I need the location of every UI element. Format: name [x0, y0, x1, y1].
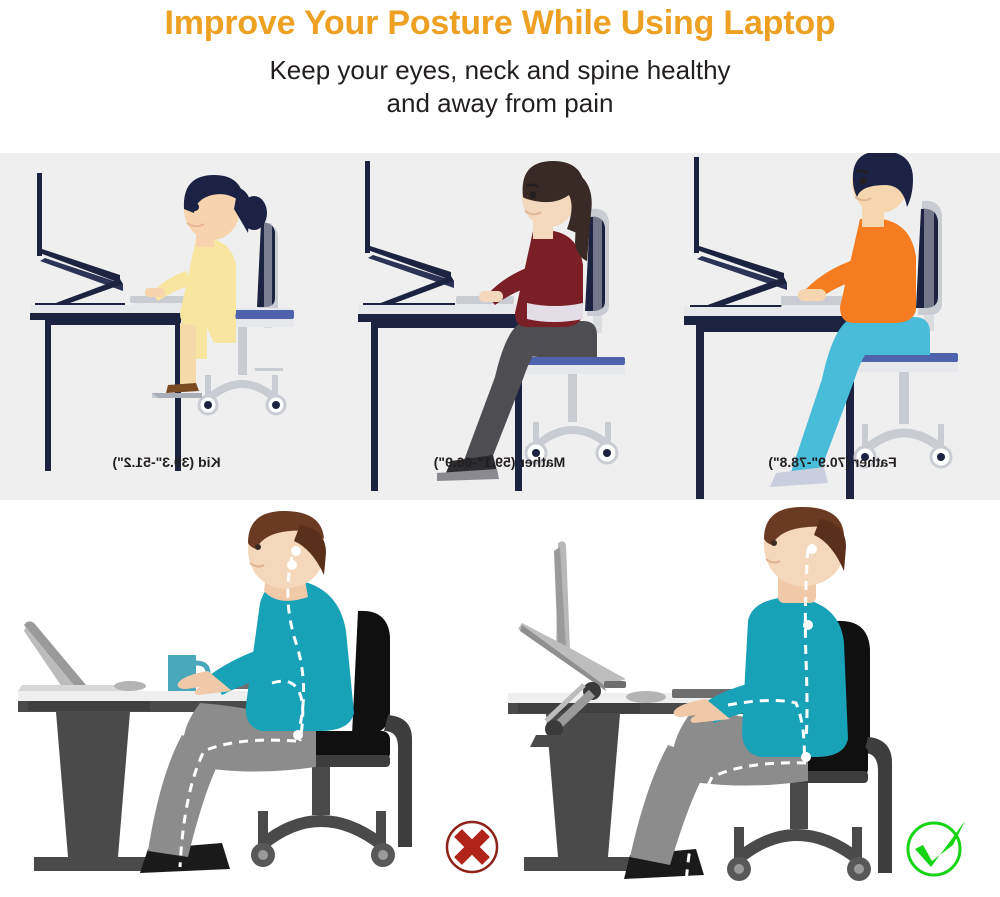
figure-mother: Mather (59.1"-66.9")	[333, 153, 666, 500]
status-badge-incorrect	[443, 818, 501, 876]
poster-root: Improve Your Posture While Using Laptop …	[0, 0, 1000, 897]
laptop-stand-icon	[690, 157, 788, 313]
keyboard-base	[781, 305, 847, 310]
check-mark-icon	[903, 815, 973, 881]
ponytail	[241, 196, 267, 230]
figure-father: Father (70.9"-78.8")	[666, 153, 999, 500]
height-chart-band: Kid (39.3"-51.2")	[0, 153, 1000, 500]
panel-bad-posture	[0, 505, 500, 897]
figure-kid: Kid (39.3"-51.2")	[0, 153, 333, 500]
page-title: Improve Your Posture While Using Laptop	[0, 4, 1000, 43]
laptop-stand-icon	[363, 161, 455, 312]
laptop-flat-icon	[18, 621, 130, 691]
kid-illustration	[0, 153, 333, 500]
caption-kid: Kid (39.3"-51.2")	[0, 454, 333, 470]
person-kid	[145, 175, 267, 398]
caption-mother: Mather (59.1"-66.9")	[333, 454, 666, 470]
subtitle-line-1: Keep your eyes, neck and spine healthy	[0, 55, 1000, 86]
subtitle-line-2: and away from pain	[0, 88, 1000, 119]
cross-mark-icon	[443, 818, 501, 876]
header: Improve Your Posture While Using Laptop …	[0, 0, 1000, 150]
mouse	[114, 681, 146, 691]
laptop-stand-icon	[35, 173, 125, 313]
keyboard-base	[456, 304, 518, 309]
mouse	[626, 691, 666, 703]
bad-posture-illustration	[0, 505, 500, 897]
caption-father: Father (70.9"-78.8")	[666, 454, 999, 470]
father-illustration	[666, 153, 999, 500]
status-badge-correct	[903, 815, 973, 881]
mother-illustration	[333, 153, 666, 500]
